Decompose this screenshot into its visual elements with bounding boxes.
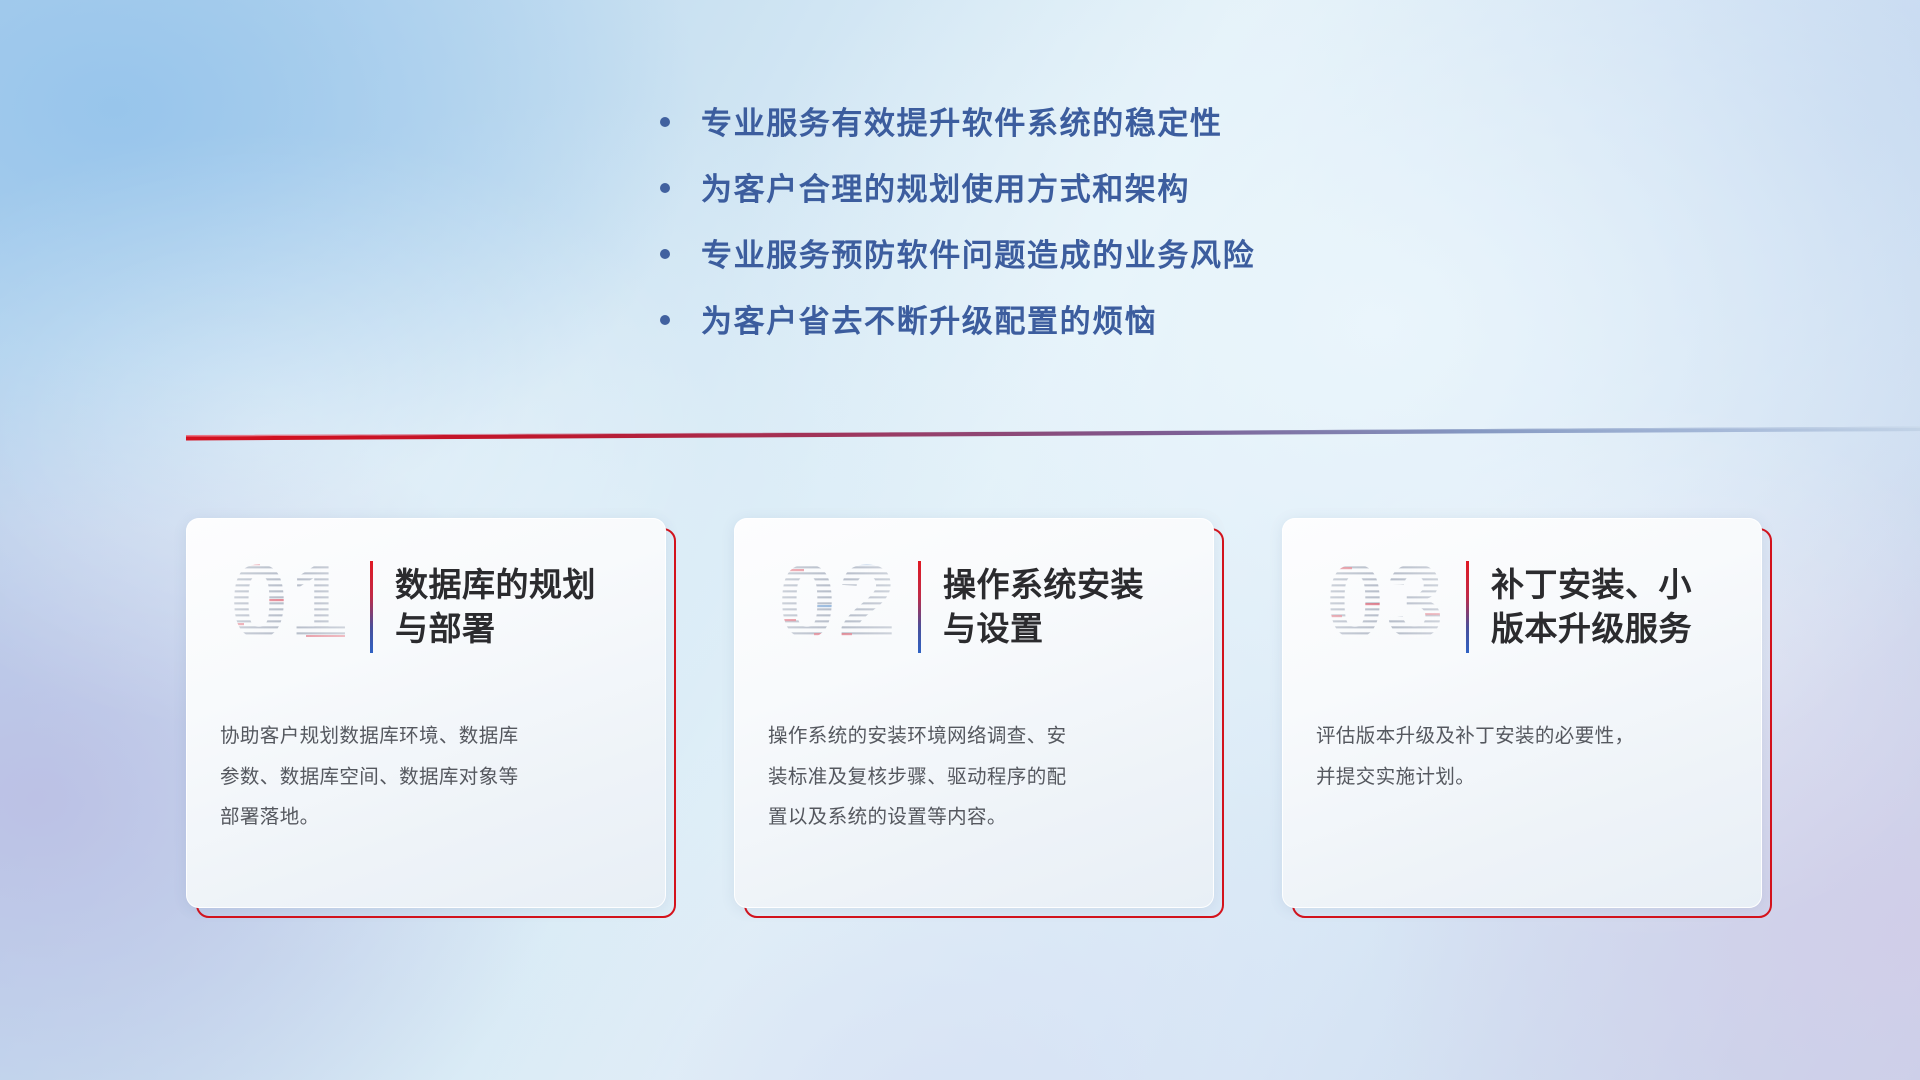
card-title: 补丁安装、小 版本升级服务 bbox=[1491, 563, 1692, 650]
section-divider bbox=[0, 414, 1920, 444]
list-item: 为客户省去不断升级配置的烦恼 bbox=[660, 296, 1255, 362]
card-number-watermark: 02 bbox=[762, 553, 914, 661]
card-title-accent-bar bbox=[918, 561, 921, 653]
tapered-rule-icon bbox=[0, 414, 1920, 444]
service-card[interactable]: 03 bbox=[1282, 518, 1766, 912]
card-number-watermark: 01 bbox=[214, 553, 366, 661]
card-title: 操作系统安装 与设置 bbox=[943, 563, 1144, 650]
card-title: 数据库的规划 与部署 bbox=[395, 563, 596, 650]
bullet-text: 专业服务有效提升软件系统的稳定性 bbox=[701, 98, 1223, 143]
service-card-list: 01 bbox=[186, 518, 1766, 912]
bullet-dot-icon bbox=[660, 117, 670, 127]
card-header: 02 bbox=[734, 542, 1214, 672]
service-card[interactable]: 02 bbox=[734, 518, 1218, 912]
card-panel: 02 bbox=[734, 518, 1214, 908]
benefits-bullet-list: 专业服务有效提升软件系统的稳定性 为客户合理的规划使用方式和架构 专业服务预防软… bbox=[660, 98, 1255, 362]
bullet-dot-icon bbox=[660, 249, 670, 259]
card-panel: 03 bbox=[1282, 518, 1762, 908]
card-header: 01 bbox=[186, 542, 666, 672]
card-body-text: 评估版本升级及补丁安装的必要性， 并提交实施计划。 bbox=[1316, 716, 1728, 797]
card-number-watermark: 03 bbox=[1310, 553, 1462, 661]
bullet-text: 为客户合理的规划使用方式和架构 bbox=[701, 164, 1190, 209]
service-card[interactable]: 01 bbox=[186, 518, 670, 912]
bullet-text: 专业服务预防软件问题造成的业务风险 bbox=[701, 230, 1255, 275]
card-body-text: 协助客户规划数据库环境、数据库 参数、数据库空间、数据库对象等 部署落地。 bbox=[220, 716, 632, 838]
list-item: 专业服务有效提升软件系统的稳定性 bbox=[660, 98, 1255, 164]
bullet-text: 为客户省去不断升级配置的烦恼 bbox=[701, 296, 1157, 341]
list-item: 专业服务预防软件问题造成的业务风险 bbox=[660, 230, 1255, 296]
card-title-accent-bar bbox=[370, 561, 373, 653]
card-title-accent-bar bbox=[1466, 561, 1469, 653]
list-item: 为客户合理的规划使用方式和架构 bbox=[660, 164, 1255, 230]
bullet-dot-icon bbox=[660, 315, 670, 325]
card-panel: 01 bbox=[186, 518, 666, 908]
bullet-dot-icon bbox=[660, 183, 670, 193]
card-header: 03 bbox=[1282, 542, 1762, 672]
card-body-text: 操作系统的安装环境网络调查、安 装标准及复核步骤、驱动程序的配 置以及系统的设置… bbox=[768, 716, 1180, 838]
